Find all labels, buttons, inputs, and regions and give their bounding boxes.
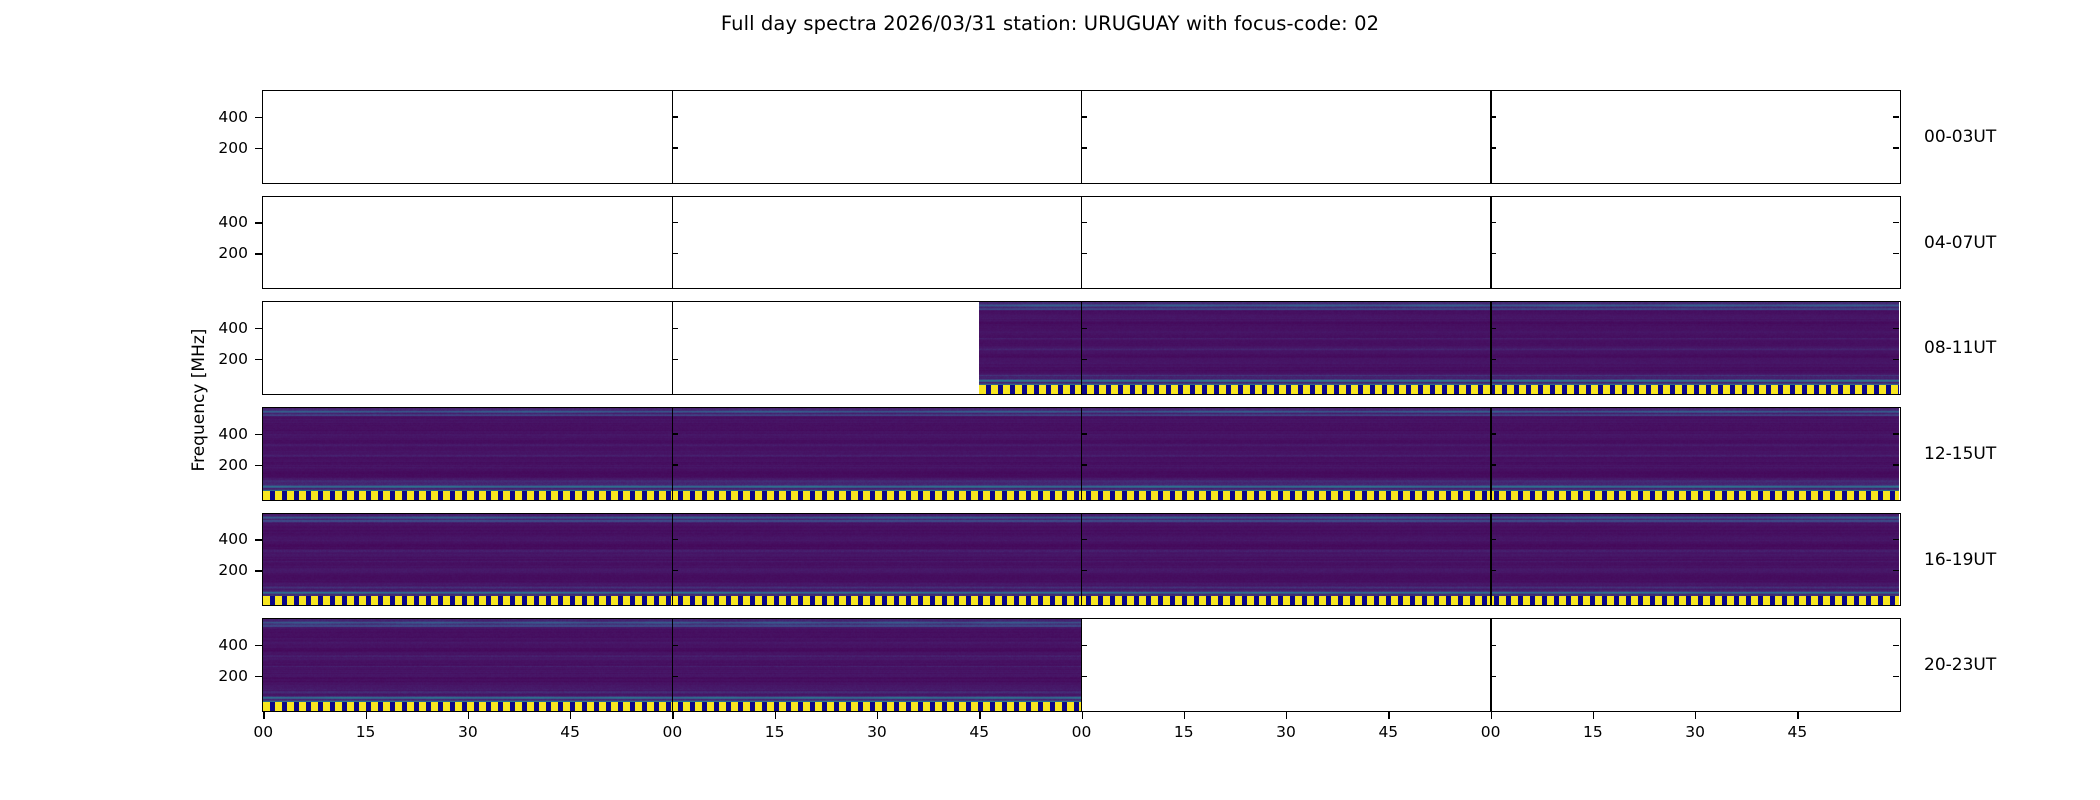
x-tick-label: 45 [949, 723, 1009, 741]
vertical-gridline [1081, 91, 1082, 183]
y-tick-mark-outer [255, 434, 262, 435]
y-tick-mark [672, 359, 678, 360]
x-tick-mark [1593, 712, 1594, 719]
y-tick-mark [1893, 222, 1899, 223]
x-tick-mark [366, 712, 367, 719]
y-tick-mark [1490, 222, 1496, 223]
x-tick-mark [570, 712, 571, 719]
vertical-gridline [1490, 408, 1491, 500]
spectrogram-row-08-11ut[interactable] [262, 301, 1901, 395]
x-tick-label: 00 [642, 723, 702, 741]
y-tick-mark-outer [255, 539, 262, 540]
vertical-gridline [1081, 514, 1082, 606]
spectrogram-row-20-23ut[interactable] [262, 618, 1901, 712]
y-tick-mark [1893, 676, 1899, 677]
y-tick-mark [1893, 464, 1899, 465]
page-title: Full day spectra 2026/03/31 station: URU… [0, 12, 2100, 35]
x-tick-label: 30 [1256, 723, 1316, 741]
vertical-gridline [1081, 197, 1082, 289]
y-tick-mark-outer [255, 465, 262, 466]
y-tick-mark [1081, 222, 1087, 223]
x-tick-mark [1388, 712, 1389, 719]
vertical-gridline [1081, 619, 1082, 711]
y-tick-mark [1893, 147, 1899, 148]
y-tick-label: 200 [158, 667, 248, 685]
x-tick-label: 30 [1665, 723, 1725, 741]
row-label-16-19ut: 16-19UT [1924, 550, 1996, 570]
y-tick-mark [672, 464, 678, 465]
y-tick-mark [1081, 464, 1087, 465]
y-tick-mark [1081, 645, 1087, 646]
y-tick-mark [1893, 328, 1899, 329]
x-tick-mark [1491, 712, 1492, 719]
y-tick-mark [672, 222, 678, 223]
x-tick-mark [1184, 712, 1185, 719]
x-tick-mark [468, 712, 469, 719]
x-tick-label: 45 [540, 723, 600, 741]
spectrogram-row-12-15ut[interactable] [262, 407, 1901, 501]
row-label-08-11ut: 08-11UT [1924, 338, 1996, 358]
y-tick-mark-outer [255, 253, 262, 254]
y-tick-label: 200 [158, 561, 248, 579]
vertical-gridline [672, 408, 673, 500]
y-tick-mark-outer [255, 328, 262, 329]
saturation-band [979, 385, 1899, 394]
y-tick-mark [1893, 645, 1899, 646]
x-tick-label: 00 [1052, 723, 1112, 741]
y-tick-mark [1081, 253, 1087, 254]
y-tick-label: 200 [158, 244, 248, 262]
y-tick-mark [1081, 116, 1087, 117]
y-tick-mark [1081, 147, 1087, 148]
vertical-gridline [1081, 408, 1082, 500]
row-label-04-07ut: 04-07UT [1924, 233, 1996, 253]
y-tick-label: 200 [158, 139, 248, 157]
y-tick-label: 400 [158, 636, 248, 654]
row-label-00-03ut: 00-03UT [1924, 127, 1996, 147]
x-tick-label: 15 [336, 723, 396, 741]
y-tick-mark [672, 116, 678, 117]
y-tick-mark [672, 645, 678, 646]
y-tick-mark [1893, 116, 1899, 117]
y-tick-label: 200 [158, 350, 248, 368]
x-tick-label: 15 [745, 723, 805, 741]
y-tick-mark [1490, 464, 1496, 465]
y-tick-label: 400 [158, 530, 248, 548]
y-tick-label: 200 [158, 456, 248, 474]
x-tick-label: 00 [1461, 723, 1521, 741]
y-tick-mark-outer [255, 359, 262, 360]
y-tick-mark [1490, 116, 1496, 117]
x-tick-label: 30 [438, 723, 498, 741]
y-tick-mark [1893, 359, 1899, 360]
x-tick-mark [1286, 712, 1287, 719]
vertical-gridline [1081, 302, 1082, 394]
vertical-gridline [1490, 197, 1491, 289]
y-tick-mark [1081, 359, 1087, 360]
y-tick-label: 400 [158, 425, 248, 443]
y-tick-mark-outer [255, 570, 262, 571]
vertical-gridline [672, 619, 673, 711]
row-label-12-15ut: 12-15UT [1924, 444, 1996, 464]
y-tick-mark [1081, 328, 1087, 329]
y-tick-mark [1490, 539, 1496, 540]
x-tick-label: 00 [233, 723, 293, 741]
y-tick-mark [1081, 570, 1087, 571]
y-tick-mark [1893, 253, 1899, 254]
y-tick-mark [1490, 147, 1496, 148]
y-tick-mark-outer [255, 645, 262, 646]
y-tick-mark [1490, 645, 1496, 646]
y-tick-mark [672, 147, 678, 148]
y-tick-mark [1081, 433, 1087, 434]
y-axis-label: Frequency [MHz] [186, 90, 212, 710]
y-tick-mark [1893, 570, 1899, 571]
y-tick-mark [672, 253, 678, 254]
y-tick-mark [1893, 433, 1899, 434]
spectrogram-row-16-19ut[interactable] [262, 513, 1901, 607]
vertical-gridline [1490, 302, 1491, 394]
x-tick-mark [1082, 712, 1083, 719]
y-tick-mark-outer [255, 222, 262, 223]
x-tick-mark [775, 712, 776, 719]
x-tick-mark [1797, 712, 1798, 719]
x-tick-label: 15 [1563, 723, 1623, 741]
y-tick-mark [1490, 676, 1496, 677]
row-label-20-23ut: 20-23UT [1924, 655, 1996, 675]
y-tick-mark-outer [255, 676, 262, 677]
vertical-gridline [1490, 91, 1491, 183]
y-tick-mark-outer [255, 148, 262, 149]
y-tick-mark [1081, 676, 1087, 677]
x-tick-label: 45 [1767, 723, 1827, 741]
x-tick-label: 30 [847, 723, 907, 741]
x-tick-label: 15 [1154, 723, 1214, 741]
y-tick-mark [1490, 359, 1496, 360]
y-tick-mark [1490, 328, 1496, 329]
y-tick-mark [1490, 253, 1496, 254]
vertical-gridline [1490, 514, 1491, 606]
spectrogram-row-04-07ut[interactable] [262, 196, 1901, 290]
x-tick-label: 45 [1358, 723, 1418, 741]
y-tick-label: 400 [158, 108, 248, 126]
y-tick-mark [672, 676, 678, 677]
y-tick-mark [1490, 433, 1496, 434]
y-tick-mark [1893, 539, 1899, 540]
y-tick-label: 400 [158, 213, 248, 231]
y-tick-mark [1490, 570, 1496, 571]
x-tick-mark [672, 712, 673, 719]
vertical-gridline [1490, 619, 1491, 711]
y-tick-mark [672, 433, 678, 434]
x-tick-mark [979, 712, 980, 719]
y-tick-label: 400 [158, 319, 248, 337]
vertical-gridline [672, 302, 673, 394]
y-tick-mark [672, 328, 678, 329]
y-tick-mark [1081, 539, 1087, 540]
y-tick-mark-outer [255, 117, 262, 118]
vertical-gridline [672, 197, 673, 289]
spectrogram-data [979, 302, 1899, 394]
vertical-gridline [672, 514, 673, 606]
x-tick-mark [263, 712, 264, 719]
y-tick-mark [672, 539, 678, 540]
x-tick-mark [877, 712, 878, 719]
vertical-gridline [672, 91, 673, 183]
spectrogram-figure: Full day spectra 2026/03/31 station: URU… [0, 0, 2100, 800]
x-tick-mark [1695, 712, 1696, 719]
y-tick-mark [672, 570, 678, 571]
spectrogram-row-00-03ut[interactable] [262, 90, 1901, 184]
